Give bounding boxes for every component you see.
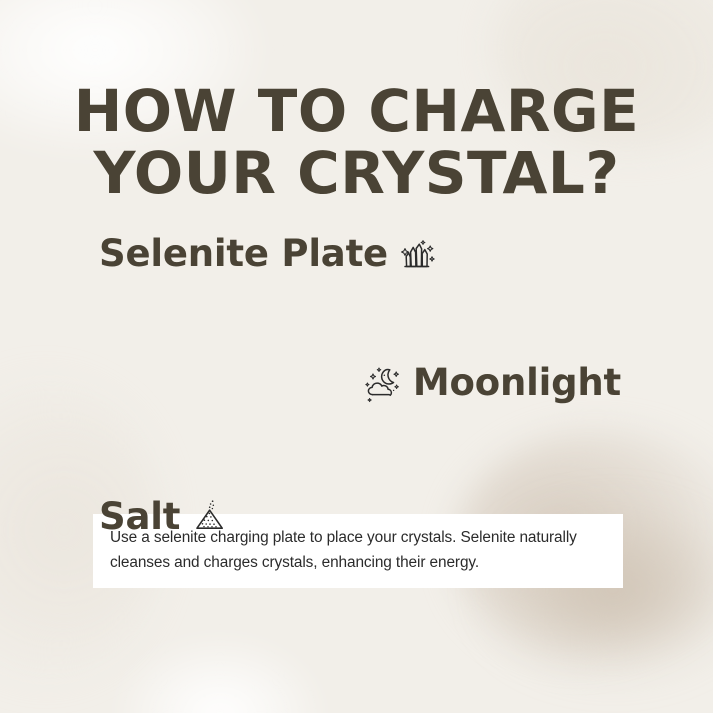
page-title: HOW TO CHARGE YOUR CRYSTAL? (0, 82, 713, 202)
section-heading-row-moonlight: Moonlight (0, 360, 713, 406)
title-line-2: YOUR CRYSTAL? (0, 144, 713, 202)
section-heading-selenite: Selenite Plate (99, 234, 388, 274)
poster-canvas: HOW TO CHARGE YOUR CRYSTAL? Selenite Pla… (0, 0, 713, 713)
section-heading-moonlight: Moonlight (413, 363, 621, 403)
section-heading-row-salt: Salt (0, 494, 713, 540)
crescent-moon-cloud-icon (363, 363, 403, 403)
crystal-cluster-icon (398, 234, 438, 274)
section-salt: Salt (0, 494, 713, 540)
section-heading-row-selenite: Selenite Plate (0, 231, 713, 277)
section-selenite-plate: Selenite Plate (0, 231, 713, 277)
section-heading-salt: Salt (99, 497, 180, 537)
salt-pile-icon (190, 497, 230, 537)
title-line-1: HOW TO CHARGE (0, 82, 713, 140)
poster-content: HOW TO CHARGE YOUR CRYSTAL? Selenite Pla… (0, 0, 713, 713)
section-moonlight: Moonlight On a clear night, position you… (0, 360, 713, 406)
